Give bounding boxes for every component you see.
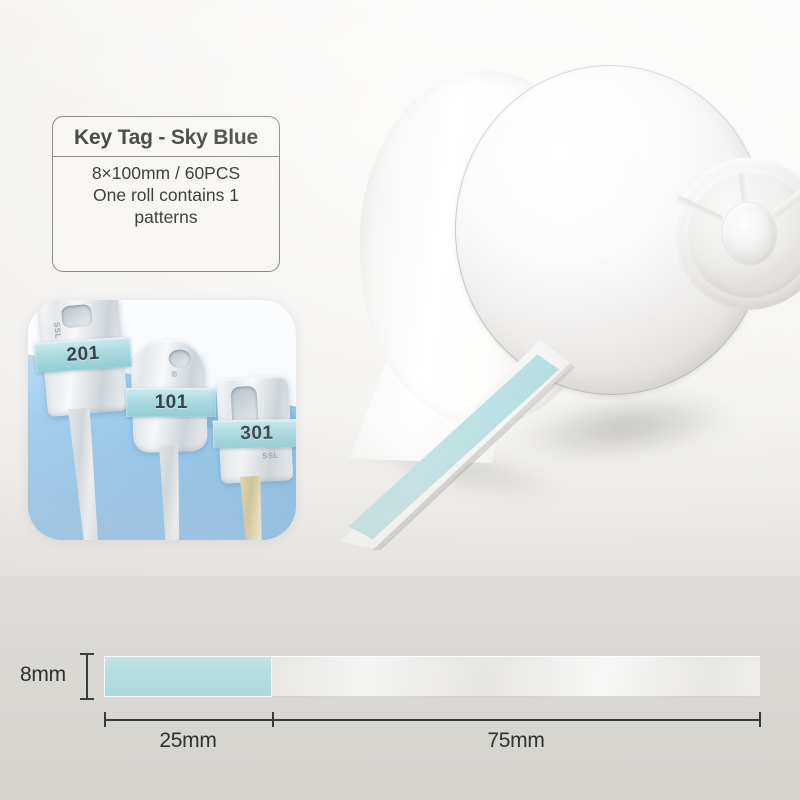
key-blade	[64, 407, 107, 540]
hub-spoke-icon	[676, 195, 724, 224]
height-dimension-cap-bottom	[80, 698, 94, 700]
key-hole	[61, 304, 93, 329]
key-item: ® 101	[130, 339, 212, 540]
product-spec-block: 8×100mm / 60PCS One roll contains 1 patt…	[53, 157, 279, 228]
key-label-text: 201	[66, 343, 101, 367]
roll-hub	[666, 150, 800, 317]
strip-printable-section	[104, 656, 272, 697]
unrolled-tape-tail	[308, 335, 578, 550]
product-info-card: Key Tag - Sky Blue 8×100mm / 60PCS One r…	[52, 116, 280, 272]
key-item: SSL 201	[38, 300, 139, 540]
key-label-text: 301	[240, 423, 274, 446]
label-roll	[300, 55, 770, 545]
key-label-band: 301	[213, 419, 296, 449]
clear-length-label: 75mm	[272, 729, 760, 753]
key-item: SSL 301	[216, 376, 296, 540]
key-label-text: 101	[155, 391, 188, 413]
key-engraving: ®	[171, 370, 178, 379]
roll-hub-core	[719, 200, 779, 267]
product-title: Key Tag - Sky Blue	[53, 117, 279, 156]
product-size-count: 8×100mm / 60PCS	[61, 162, 271, 184]
hub-spoke-icon	[771, 181, 800, 218]
printable-length-label: 25mm	[104, 729, 272, 753]
key-usage-photo: SSL 201 ® 101 SSL	[28, 300, 296, 540]
key-blade	[154, 444, 189, 540]
dimension-tick-right	[759, 712, 761, 727]
product-image-stage: Key Tag - Sky Blue 8×100mm / 60PCS One r…	[0, 0, 800, 800]
product-pattern-count: One roll contains 1 patterns	[61, 184, 271, 228]
key-engraving: SSL	[52, 322, 62, 339]
label-strip-diagram	[104, 656, 760, 697]
product-photo-panel: Key Tag - Sky Blue 8×100mm / 60PCS One r…	[0, 0, 800, 576]
roll-hub-ring	[679, 163, 800, 304]
key-engraving: SSL	[262, 451, 279, 461]
height-dimension-label: 8mm	[20, 663, 66, 687]
dimension-tick-left	[104, 712, 106, 727]
tape-sky-blue-label	[308, 335, 578, 550]
length-dimension-line	[104, 719, 760, 721]
key-blade	[235, 475, 271, 540]
dimension-tick-middle	[272, 712, 274, 727]
height-dimension-cap-top	[80, 653, 94, 655]
key-label-band: 101	[126, 388, 216, 417]
hub-spoke-icon	[739, 172, 750, 203]
height-dimension-line	[86, 653, 88, 700]
